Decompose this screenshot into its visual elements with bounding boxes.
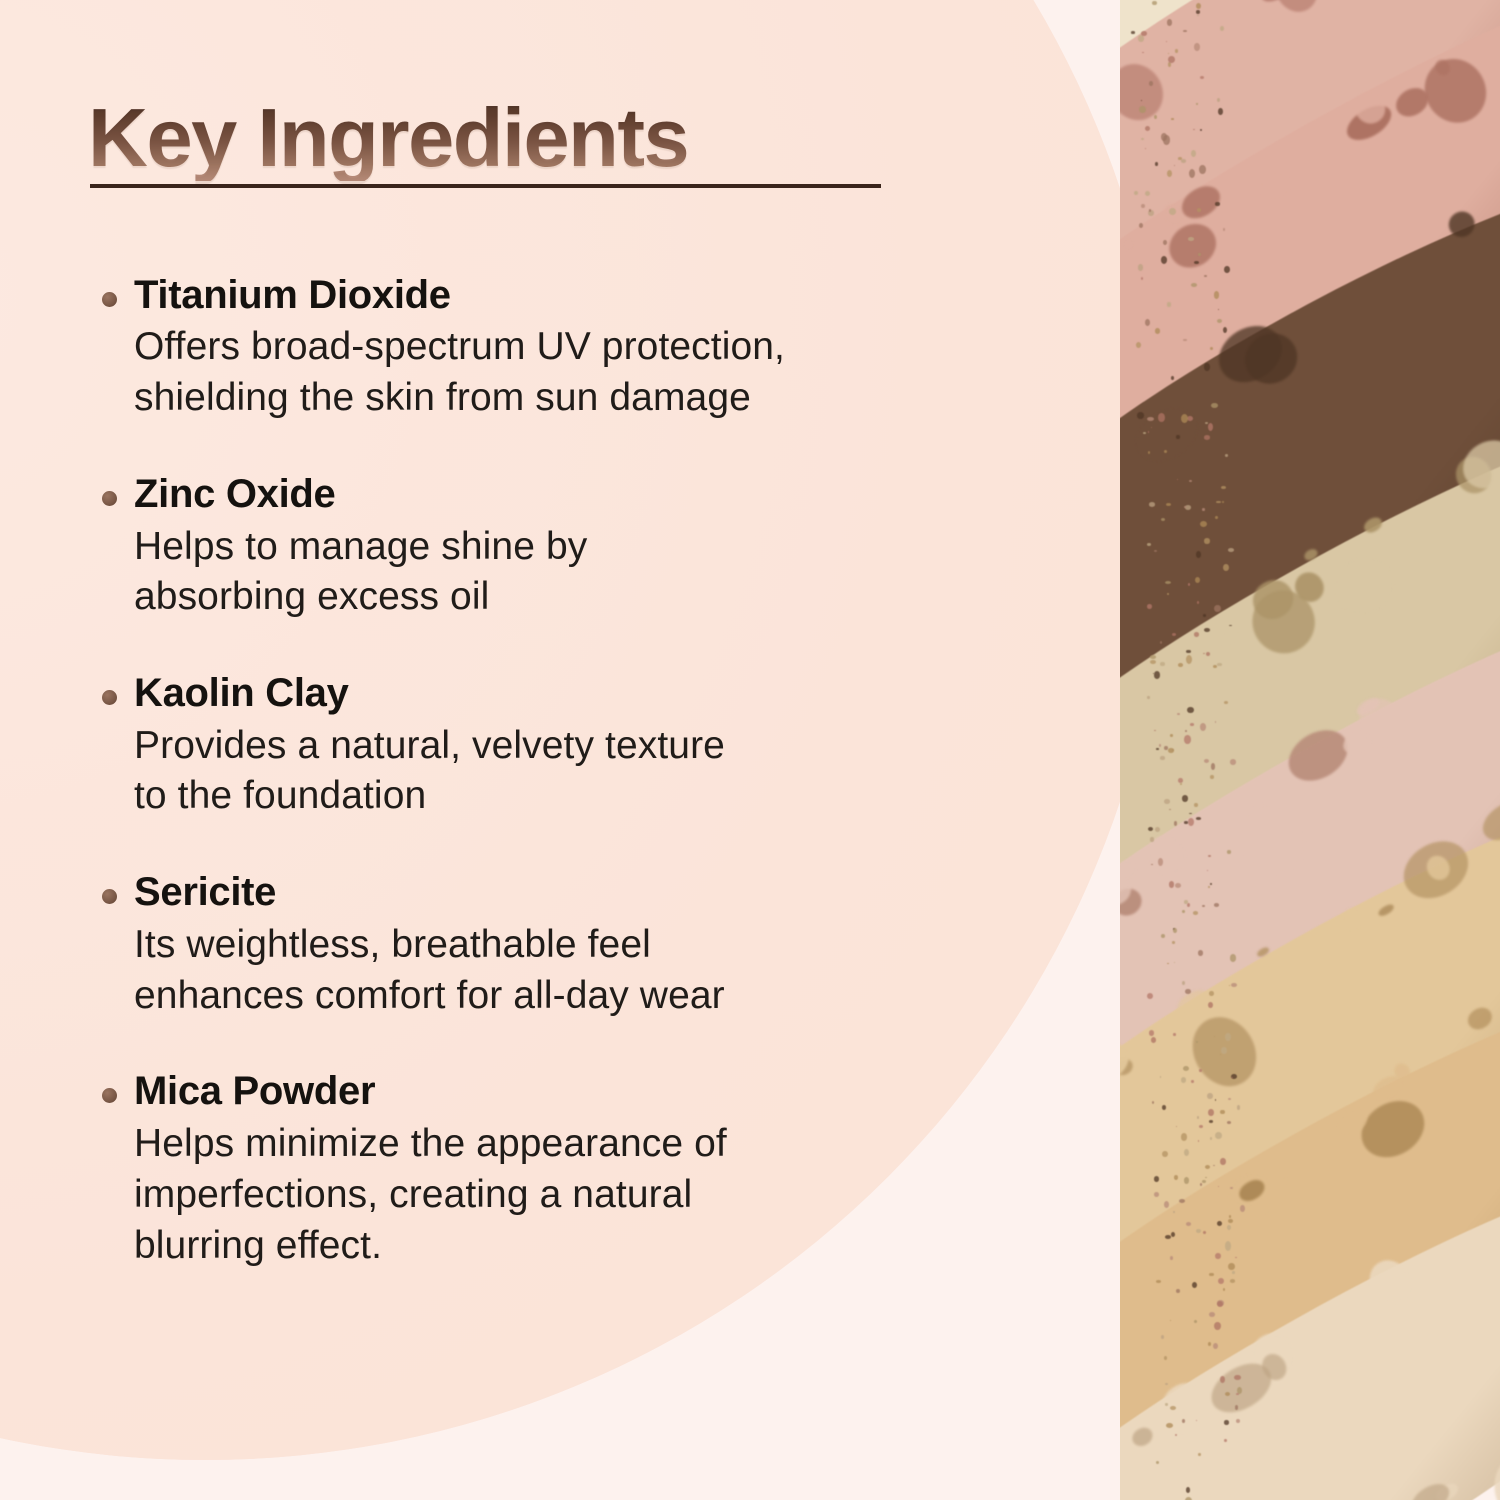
content-column: Key Ingredients Titanium Dioxide Offers … (88, 96, 988, 1271)
powder-speck (1228, 1098, 1231, 1101)
powder-swatch-strip (1120, 0, 1500, 1500)
powder-speck (1150, 660, 1156, 664)
powder-speck (1186, 1222, 1191, 1226)
bullet-dot-icon (102, 292, 117, 307)
powder-speck (1168, 56, 1175, 63)
powder-speck (1185, 989, 1190, 994)
powder-speck (1175, 1434, 1177, 1436)
powder-speck (1189, 813, 1191, 814)
powder-speck (1235, 1257, 1237, 1258)
powder-speck (1182, 795, 1188, 802)
powder-speck (1194, 43, 1200, 51)
powder-speck (1149, 1030, 1155, 1036)
powder-speck (1217, 98, 1220, 102)
powder-speck (1215, 1253, 1221, 1260)
powder-speck (1209, 991, 1214, 997)
powder-speck (1215, 516, 1218, 520)
powder-speck (1173, 1211, 1175, 1214)
powder-speck (1161, 934, 1166, 938)
powder-speck (1164, 450, 1167, 453)
powder-speck (1154, 671, 1160, 679)
powder-speck (1154, 1192, 1159, 1197)
powder-speck (1175, 49, 1179, 53)
powder-speck (1198, 253, 1201, 255)
powder-speck (1221, 1047, 1226, 1054)
powder-speck (1229, 985, 1230, 986)
powder-speck (1181, 414, 1188, 423)
powder-speck (1194, 803, 1198, 808)
powder-speck (1141, 277, 1144, 281)
powder-speck (1237, 1105, 1240, 1110)
bullet-dot-icon (102, 491, 117, 506)
powder-speck (1228, 1219, 1233, 1224)
powder-speck (1179, 1199, 1185, 1203)
powder-speck (1145, 126, 1150, 131)
powder-speck (1169, 809, 1171, 810)
powder-speck (1222, 501, 1224, 504)
powder-speck (1210, 775, 1214, 780)
powder-speck (1177, 479, 1179, 480)
powder-speck (1198, 1453, 1200, 1456)
list-item: Mica Powder Helps minimize the appearanc… (88, 1069, 988, 1271)
powder-speck (1217, 1301, 1223, 1307)
powder-speck (1225, 1392, 1230, 1396)
powder-speck (1232, 1271, 1234, 1274)
powder-speck (1204, 435, 1210, 439)
powder-speck (1184, 1149, 1189, 1156)
powder-speck (1211, 763, 1216, 770)
powder-speck (1224, 1439, 1226, 1442)
powder-speck (1223, 327, 1227, 333)
powder-speck (1225, 1033, 1231, 1041)
powder-speck (1189, 480, 1192, 482)
powder-speck (1193, 129, 1195, 130)
powder-speck (1220, 26, 1224, 31)
powder-speck (1158, 413, 1165, 422)
powder-speck (1182, 1419, 1185, 1423)
powder-speck (1165, 1383, 1168, 1386)
powder-speck (1136, 342, 1141, 348)
powder-speck (1224, 266, 1230, 273)
powder-speck (1149, 81, 1153, 85)
powder-speck (1167, 963, 1168, 965)
powder-speck (1214, 1036, 1216, 1037)
powder-speck (1193, 911, 1198, 914)
powder-speck (1213, 665, 1217, 668)
powder-speck (1215, 1099, 1216, 1101)
powder-speck (1171, 376, 1174, 380)
powder-speck (1176, 1289, 1180, 1293)
powder-speck (1160, 662, 1165, 667)
powder-speck (1196, 1229, 1201, 1233)
powder-speck (1183, 339, 1187, 341)
powder-speck (1196, 817, 1201, 820)
powder-speck (1164, 799, 1170, 804)
powder-speck (1181, 1133, 1188, 1141)
powder-speck (1194, 1320, 1197, 1323)
key-ingredients-infographic: Key Ingredients Titanium Dioxide Offers … (0, 0, 1500, 1500)
powder-speck (1178, 778, 1182, 783)
powder-speck (1152, 1, 1156, 5)
page-title: Key Ingredients (88, 96, 881, 181)
powder-speck (1131, 31, 1134, 34)
powder-speck (1145, 319, 1150, 326)
powder-speck (1197, 1116, 1199, 1118)
powder-speck (1208, 886, 1210, 888)
powder-speck (1191, 150, 1197, 158)
powder-speck (1196, 551, 1201, 558)
powder-speck (1228, 548, 1234, 552)
powder-speck (1170, 1320, 1171, 1321)
powder-speck (1209, 1273, 1213, 1277)
powder-speck (1187, 707, 1194, 714)
powder-speck (1148, 451, 1150, 454)
powder-speck (1171, 118, 1174, 120)
powder-speck (1234, 1375, 1241, 1380)
powder-speck (1169, 881, 1174, 888)
list-item: Zinc Oxide Helps to manage shine by abso… (88, 472, 988, 623)
powder-speck (1165, 1235, 1171, 1239)
powder-speck (1171, 1232, 1175, 1237)
powder-speck (1229, 1215, 1231, 1218)
powder-speck (1147, 543, 1151, 545)
powder-speck (1202, 905, 1205, 907)
powder-speck (1138, 264, 1144, 271)
powder-speck (1158, 858, 1163, 866)
powder-speck (1204, 538, 1209, 543)
powder-speck (1184, 1177, 1189, 1183)
powder-speck (1231, 1077, 1232, 1078)
powder-speck (1141, 31, 1147, 36)
list-item: Kaolin Clay Provides a natural, velvety … (88, 671, 988, 822)
powder-speck (1181, 159, 1186, 163)
powder-speck (1167, 302, 1172, 307)
powder-speck (1167, 593, 1168, 595)
powder-speck (1228, 1263, 1235, 1270)
powder-speck (1139, 106, 1145, 113)
powder-speck (1199, 1125, 1203, 1128)
powder-speck (1227, 850, 1232, 853)
ingredient-name: Sericite (134, 870, 988, 915)
powder-speck (1214, 605, 1220, 612)
powder-speck (1205, 1177, 1206, 1179)
powder-speck (1145, 191, 1150, 196)
powder-speck (1180, 783, 1182, 785)
powder-speck (1215, 1132, 1222, 1139)
powder-speck (1184, 821, 1188, 823)
powder-speck (1227, 1121, 1231, 1124)
powder-speck (1218, 1278, 1224, 1284)
powder-speck (1204, 759, 1209, 763)
powder-speck (1164, 1356, 1167, 1360)
powder-speck (1200, 76, 1204, 79)
powder-speck (1208, 423, 1213, 431)
powder-speck (1196, 1041, 1198, 1043)
powder-speck (1199, 165, 1206, 174)
powder-speck (1227, 1225, 1231, 1230)
powder-speck (1225, 454, 1228, 456)
powder-speck (1194, 261, 1199, 264)
powder-speck (1166, 1423, 1173, 1428)
powder-speck (1148, 431, 1150, 433)
powder-speck (1178, 157, 1181, 160)
powder-speck (1204, 363, 1210, 371)
powder-speck (1154, 730, 1156, 731)
powder-speck (1213, 1165, 1215, 1166)
powder-speck (1145, 148, 1146, 149)
powder-speck (1218, 1186, 1219, 1187)
ingredient-description: Offers broad-spectrum UV protection, shi… (134, 322, 988, 423)
powder-speck (1156, 1461, 1160, 1464)
powder-speck (1229, 625, 1231, 626)
powder-speck (1208, 1342, 1211, 1346)
powder-speck (1175, 883, 1181, 888)
powder-speck (1206, 652, 1210, 656)
powder-speck (1192, 1282, 1197, 1288)
powder-speck (1182, 981, 1185, 985)
powder-speck (1220, 1158, 1226, 1165)
powder-speck (1203, 614, 1206, 617)
powder-speck (1208, 855, 1211, 857)
powder-speck (1151, 864, 1153, 866)
title-block: Key Ingredients (88, 96, 881, 181)
powder-speck (1183, 30, 1187, 32)
powder-speck (1141, 204, 1145, 208)
powder-speck (1134, 191, 1138, 195)
bullet-dot-icon (102, 690, 117, 705)
powder-speck (1161, 518, 1165, 521)
powder-speck (1166, 41, 1167, 42)
powder-speck (1208, 1109, 1214, 1116)
powder-speck (1172, 633, 1176, 637)
powder-speck (1189, 169, 1195, 178)
powder-speck (1197, 208, 1201, 212)
powder-speck (1150, 655, 1156, 659)
powder-speck (1188, 583, 1190, 585)
powder-speck (1185, 730, 1187, 732)
powder-speck (1168, 53, 1169, 54)
powder-speck (1240, 1205, 1245, 1212)
ingredient-name: Kaolin Clay (134, 671, 988, 716)
powder-speck (1154, 1176, 1159, 1182)
powder-speck (1160, 1076, 1162, 1078)
powder-speck (1160, 641, 1162, 644)
ingredient-name: Mica Powder (134, 1069, 988, 1114)
powder-speck (1147, 993, 1153, 999)
powder-speck (1138, 35, 1144, 41)
powder-speck (1235, 1405, 1238, 1410)
powder-speck (1152, 1101, 1154, 1104)
ingredient-description: Helps to manage shine by absorbing exces… (134, 522, 988, 623)
powder-speck (1155, 162, 1158, 166)
powder-speck (1210, 347, 1213, 350)
powder-speck (1154, 550, 1157, 551)
powder-speck (1224, 701, 1229, 704)
powder-speck (1214, 1322, 1221, 1330)
powder-speck (1203, 653, 1206, 654)
powder-speck (1167, 170, 1172, 177)
powder-speck (1164, 746, 1168, 750)
powder-speck (1143, 432, 1146, 434)
ingredient-description: Its weightless, breathable feel enhances… (134, 920, 988, 1021)
title-underline (90, 184, 881, 188)
powder-speck (1231, 983, 1237, 988)
powder-speck (1220, 1054, 1221, 1055)
powder-speck (1187, 903, 1190, 907)
ingredient-name: Zinc Oxide (134, 472, 988, 517)
powder-speck (1155, 827, 1160, 832)
powder-speck (1164, 1201, 1169, 1208)
powder-speck (1218, 108, 1223, 115)
powder-speck (1217, 663, 1223, 666)
powder-speck (1184, 735, 1190, 744)
powder-speck (1194, 632, 1200, 637)
powder-speck (1209, 1120, 1213, 1123)
powder-speck (1221, 486, 1226, 489)
powder-speck (1198, 950, 1203, 956)
powder-speck (1137, 412, 1144, 418)
powder-speck (1214, 903, 1219, 906)
powder-speck (1161, 256, 1167, 263)
powder-speck (1178, 663, 1183, 667)
powder-speck (1188, 818, 1194, 826)
powder-speck (1174, 821, 1178, 827)
powder-speck (1207, 870, 1208, 871)
powder-speck (1207, 1093, 1212, 1099)
powder-speck (1196, 10, 1200, 14)
powder-speck (1209, 1312, 1216, 1317)
powder-speck (1200, 1183, 1202, 1186)
powder-specks-layer (1120, 0, 1500, 1500)
powder-speck (1181, 1077, 1186, 1082)
powder-speck (1204, 628, 1210, 633)
powder-speck (1217, 319, 1222, 323)
powder-speck (1190, 723, 1194, 725)
powder-speck (1186, 650, 1190, 653)
powder-speck (1216, 501, 1220, 503)
powder-speck (1155, 328, 1161, 334)
powder-speck (1197, 601, 1200, 604)
powder-speck (1211, 403, 1218, 408)
powder-speck (1200, 723, 1206, 731)
powder-speck (1204, 275, 1208, 278)
powder-speck (1214, 291, 1219, 298)
powder-speck (1174, 1175, 1179, 1180)
powder-speck (1165, 1403, 1169, 1406)
powder-speck (1176, 1126, 1177, 1127)
powder-speck (1205, 1165, 1210, 1169)
powder-speck (1168, 748, 1174, 753)
powder-speck (1184, 900, 1188, 903)
powder-speck (1183, 1066, 1189, 1071)
powder-speck (1150, 837, 1154, 841)
powder-speck (1217, 1221, 1222, 1226)
powder-speck (1186, 655, 1192, 665)
powder-speck (1162, 1151, 1168, 1157)
powder-speck (1161, 133, 1167, 141)
powder-speck (1203, 1231, 1206, 1234)
powder-speck (1149, 502, 1155, 506)
ingredient-name: Titanium Dioxide (134, 273, 988, 318)
ingredient-list: Titanium Dioxide Offers broad-spectrum U… (88, 273, 988, 1272)
list-item: Sericite Its weightless, breathable feel… (88, 870, 988, 1021)
powder-speck (1148, 827, 1153, 831)
powder-speck (1202, 508, 1205, 510)
powder-speck (1191, 283, 1197, 287)
powder-speck (1230, 1187, 1233, 1189)
powder-speck (1177, 713, 1180, 715)
powder-speck (1215, 721, 1217, 723)
bullet-dot-icon (102, 889, 117, 904)
powder-speck (1160, 756, 1164, 760)
powder-speck (1184, 506, 1186, 508)
powder-speck (1174, 962, 1175, 963)
ingredient-description: Provides a natural, velvety texture to t… (134, 721, 988, 822)
powder-speck (1236, 1419, 1240, 1423)
powder-speck (1198, 1140, 1200, 1141)
powder-speck (1191, 1080, 1193, 1083)
powder-speck (1156, 1280, 1161, 1283)
powder-speck (1208, 1002, 1213, 1008)
powder-speck (1139, 223, 1143, 228)
powder-speck (1170, 734, 1173, 737)
powder-speck (1174, 165, 1175, 166)
powder-speck (1223, 564, 1229, 571)
powder-speck (1162, 1105, 1166, 1110)
powder-speck (1196, 1420, 1197, 1421)
powder-speck (1173, 1033, 1175, 1036)
powder-speck (1170, 1256, 1174, 1260)
powder-speck (1223, 228, 1225, 231)
powder-speck (1220, 1110, 1225, 1115)
powder-speck (1200, 521, 1207, 527)
bullet-dot-icon (102, 1088, 117, 1103)
powder-speck (1213, 1343, 1218, 1349)
powder-speck (1230, 954, 1237, 962)
powder-speck (1167, 19, 1172, 25)
powder-speck (1224, 1420, 1228, 1424)
powder-speck (1172, 941, 1176, 944)
powder-speck (1236, 1393, 1239, 1395)
powder-speck (1159, 744, 1161, 746)
powder-speck (1210, 1137, 1213, 1140)
powder-speck (1154, 115, 1157, 119)
powder-speck (1173, 928, 1177, 933)
powder-speck (1161, 1335, 1164, 1339)
powder-speck (1200, 129, 1202, 131)
powder-speck (1142, 52, 1143, 53)
powder-speck (1165, 581, 1171, 584)
powder-speck (1230, 1279, 1235, 1282)
powder-speck (1169, 208, 1176, 215)
powder-speck (1170, 1406, 1176, 1410)
powder-speck (1147, 696, 1150, 700)
powder-speck (1147, 604, 1152, 609)
powder-speck (1185, 505, 1191, 510)
powder-speck (1156, 748, 1159, 749)
powder-speck (1199, 1069, 1203, 1072)
powder-speck (1215, 202, 1220, 207)
powder-speck (1230, 759, 1237, 765)
powder-speck (1147, 417, 1154, 421)
powder-speck (1218, 309, 1219, 310)
powder-speck (1195, 577, 1200, 583)
powder-speck (1197, 15, 1199, 16)
powder-speck (1186, 1487, 1190, 1492)
powder-speck (1141, 138, 1144, 140)
powder-speck (1196, 3, 1201, 10)
powder-speck (1202, 1180, 1206, 1183)
